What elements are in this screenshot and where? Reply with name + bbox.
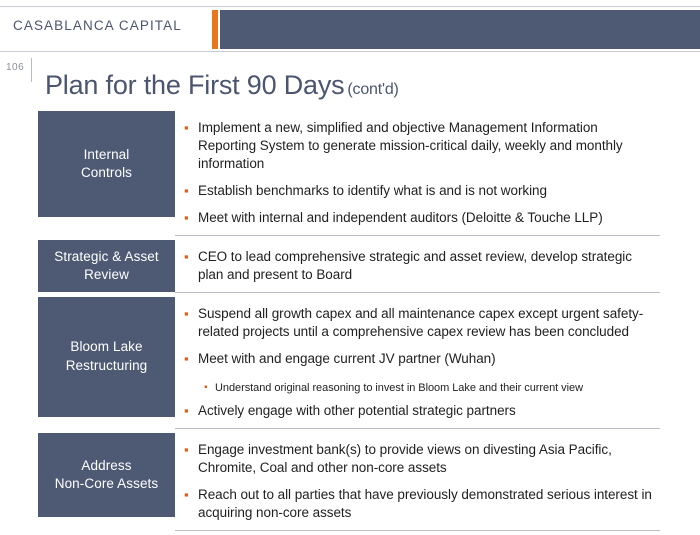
sub-bullet-text: Understand original reasoning to invest … [215,381,583,396]
bullet-item: ▪ CEO to lead comprehensive strategic an… [175,248,656,284]
bullet-text: Meet with and engage current JV partner … [198,350,496,368]
row-content: ▪ Suspend all growth capex and all maint… [175,297,660,430]
bullet-item: ▪ Implement a new, simplified and object… [175,119,656,173]
row-label-line-2: Restructuring [66,358,148,373]
bullet-item: ▪ Meet with internal and independent aud… [175,209,656,227]
bullet-marker-icon: ▪ [181,209,198,226]
table-row: Bloom Lake Restructuring ▪ Suspend all g… [38,297,660,430]
row-label-line-1: Bloom Lake [70,339,142,354]
bullet-item: ▪ Establish benchmarks to identify what … [175,182,656,200]
bullet-marker-icon: ▪ [181,402,198,419]
bullet-marker-icon: ▪ [181,119,198,136]
sub-bullet-marker-icon: ▪ [201,381,215,395]
header-color-block [220,10,700,49]
table-row: Internal Controls ▪ Implement a new, sim… [38,111,660,236]
page-title-main: Plan for the First 90 Days [45,70,344,100]
bullet-text: Suspend all growth capex and all mainten… [198,305,656,341]
header-bottom-rule [0,51,700,52]
row-label-line-2: Non-Core Assets [55,476,159,491]
bullet-text: Reach out to all parties that have previ… [198,486,656,522]
table-row: Address Non-Core Assets ▪ Engage investm… [38,433,660,531]
page-title-sub: (cont'd) [344,81,398,98]
bullet-text: Actively engage with other potential str… [198,402,516,420]
bullet-marker-icon: ▪ [181,248,198,265]
row-label-internal-controls: Internal Controls [38,111,175,217]
row-label-line-1: Internal [84,147,130,162]
bullet-text: Establish benchmarks to identify what is… [198,182,547,200]
slide: CASABLANCA CAPITAL 106 Plan for the Firs… [0,0,700,535]
bullet-text: Implement a new, simplified and objectiv… [198,119,656,173]
page-number: 106 [6,62,24,73]
bullet-marker-icon: ▪ [181,350,198,367]
row-label-line-2: Controls [81,165,132,180]
page-number-divider [31,58,32,82]
row-label-line-2: Review [84,267,129,282]
table-row: Strategic & Asset Review ▪ CEO to lead c… [38,240,660,293]
bullet-marker-icon: ▪ [181,182,198,199]
bullet-marker-icon: ▪ [181,441,198,458]
row-content: ▪ CEO to lead comprehensive strategic an… [175,240,660,293]
header-top-rule [0,6,700,7]
row-label-strategic-asset-review: Strategic & Asset Review [38,240,175,292]
row-label-line-1: Address [81,458,131,473]
row-content: ▪ Implement a new, simplified and object… [175,111,660,236]
sub-bullet-item: ▪ Understand original reasoning to inves… [175,381,656,396]
bullet-item: ▪ Actively engage with other potential s… [175,402,656,420]
header-accent-bar [212,10,218,49]
bullet-item: ▪ Reach out to all parties that have pre… [175,486,656,522]
row-label-bloom-lake-restructuring: Bloom Lake Restructuring [38,297,175,417]
bullet-marker-icon: ▪ [181,305,198,322]
bullet-item: ▪ Meet with and engage current JV partne… [175,350,656,368]
row-label-line-1: Strategic & Asset [54,249,159,264]
bullet-marker-icon: ▪ [181,486,198,503]
row-content: ▪ Engage investment bank(s) to provide v… [175,433,660,531]
plan-table: Internal Controls ▪ Implement a new, sim… [38,111,660,531]
brand-label: CASABLANCA CAPITAL [13,18,182,33]
bullet-item: ▪ Suspend all growth capex and all maint… [175,305,656,341]
row-label-address-non-core-assets: Address Non-Core Assets [38,433,175,517]
slide-header: CASABLANCA CAPITAL [0,6,700,52]
page-title: Plan for the First 90 Days(cont'd) [45,70,399,101]
bullet-text: CEO to lead comprehensive strategic and … [198,248,656,284]
bullet-item: ▪ Engage investment bank(s) to provide v… [175,441,656,477]
bullet-text: Meet with internal and independent audit… [198,209,603,227]
bullet-text: Engage investment bank(s) to provide vie… [198,441,656,477]
